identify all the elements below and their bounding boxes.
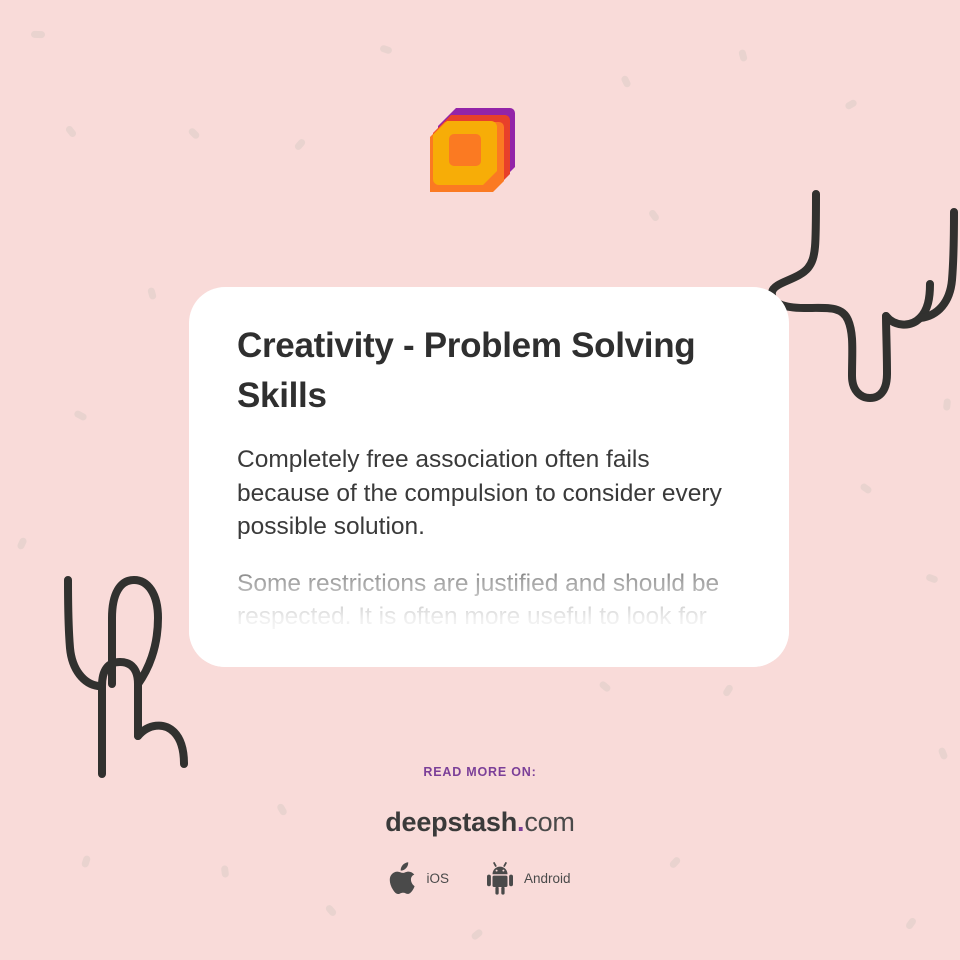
pointing-hand-right-icon bbox=[768, 176, 960, 396]
deepstash-logo bbox=[430, 104, 518, 192]
confetti-dash bbox=[147, 287, 157, 300]
confetti-dash bbox=[648, 209, 661, 223]
android-store-badge[interactable]: Android bbox=[485, 862, 571, 895]
confetti-dash bbox=[859, 482, 873, 495]
confetti-dash bbox=[738, 49, 748, 62]
footer: READ MORE ON: deepstash.com iOS bbox=[0, 765, 960, 895]
android-label: Android bbox=[524, 871, 571, 886]
confetti-dash bbox=[293, 138, 306, 152]
apple-icon bbox=[389, 862, 417, 895]
confetti-dash bbox=[905, 917, 918, 931]
confetti-dash bbox=[65, 125, 78, 139]
confetti-dash bbox=[938, 747, 949, 761]
confetti-dash bbox=[620, 75, 632, 89]
confetti-dash bbox=[925, 573, 939, 584]
store-badges: iOS Android bbox=[0, 862, 960, 895]
page-title: Creativity - Problem Solving Skills bbox=[237, 321, 741, 421]
confetti-dash bbox=[31, 31, 45, 38]
confetti-dash bbox=[943, 398, 951, 411]
confetti-dash bbox=[16, 537, 27, 551]
confetti-dash bbox=[73, 409, 88, 421]
confetti-dash bbox=[598, 680, 612, 693]
pointing-hand-left-icon bbox=[26, 566, 216, 781]
android-icon bbox=[485, 862, 515, 895]
poster-canvas: Creativity - Problem Solving Skills Comp… bbox=[0, 0, 960, 960]
confetti-dash bbox=[844, 98, 858, 110]
confetti-dash bbox=[470, 928, 484, 941]
confetti-dash bbox=[379, 44, 393, 54]
brand-tld: com bbox=[524, 807, 574, 837]
card-paragraph-1: Completely free association often fails … bbox=[237, 443, 741, 544]
confetti-dash bbox=[187, 127, 200, 140]
read-more-label: READ MORE ON: bbox=[0, 765, 960, 779]
confetti-dash bbox=[722, 684, 734, 698]
brand-wordmark[interactable]: deepstash.com bbox=[0, 807, 960, 838]
confetti-dash bbox=[324, 904, 337, 918]
brand-name: deepstash bbox=[385, 807, 517, 837]
ios-label: iOS bbox=[426, 871, 449, 886]
ios-store-badge[interactable]: iOS bbox=[389, 862, 449, 895]
card-paragraph-2: Some restrictions are justified and shou… bbox=[237, 567, 741, 634]
idea-card: Creativity - Problem Solving Skills Comp… bbox=[189, 287, 789, 667]
